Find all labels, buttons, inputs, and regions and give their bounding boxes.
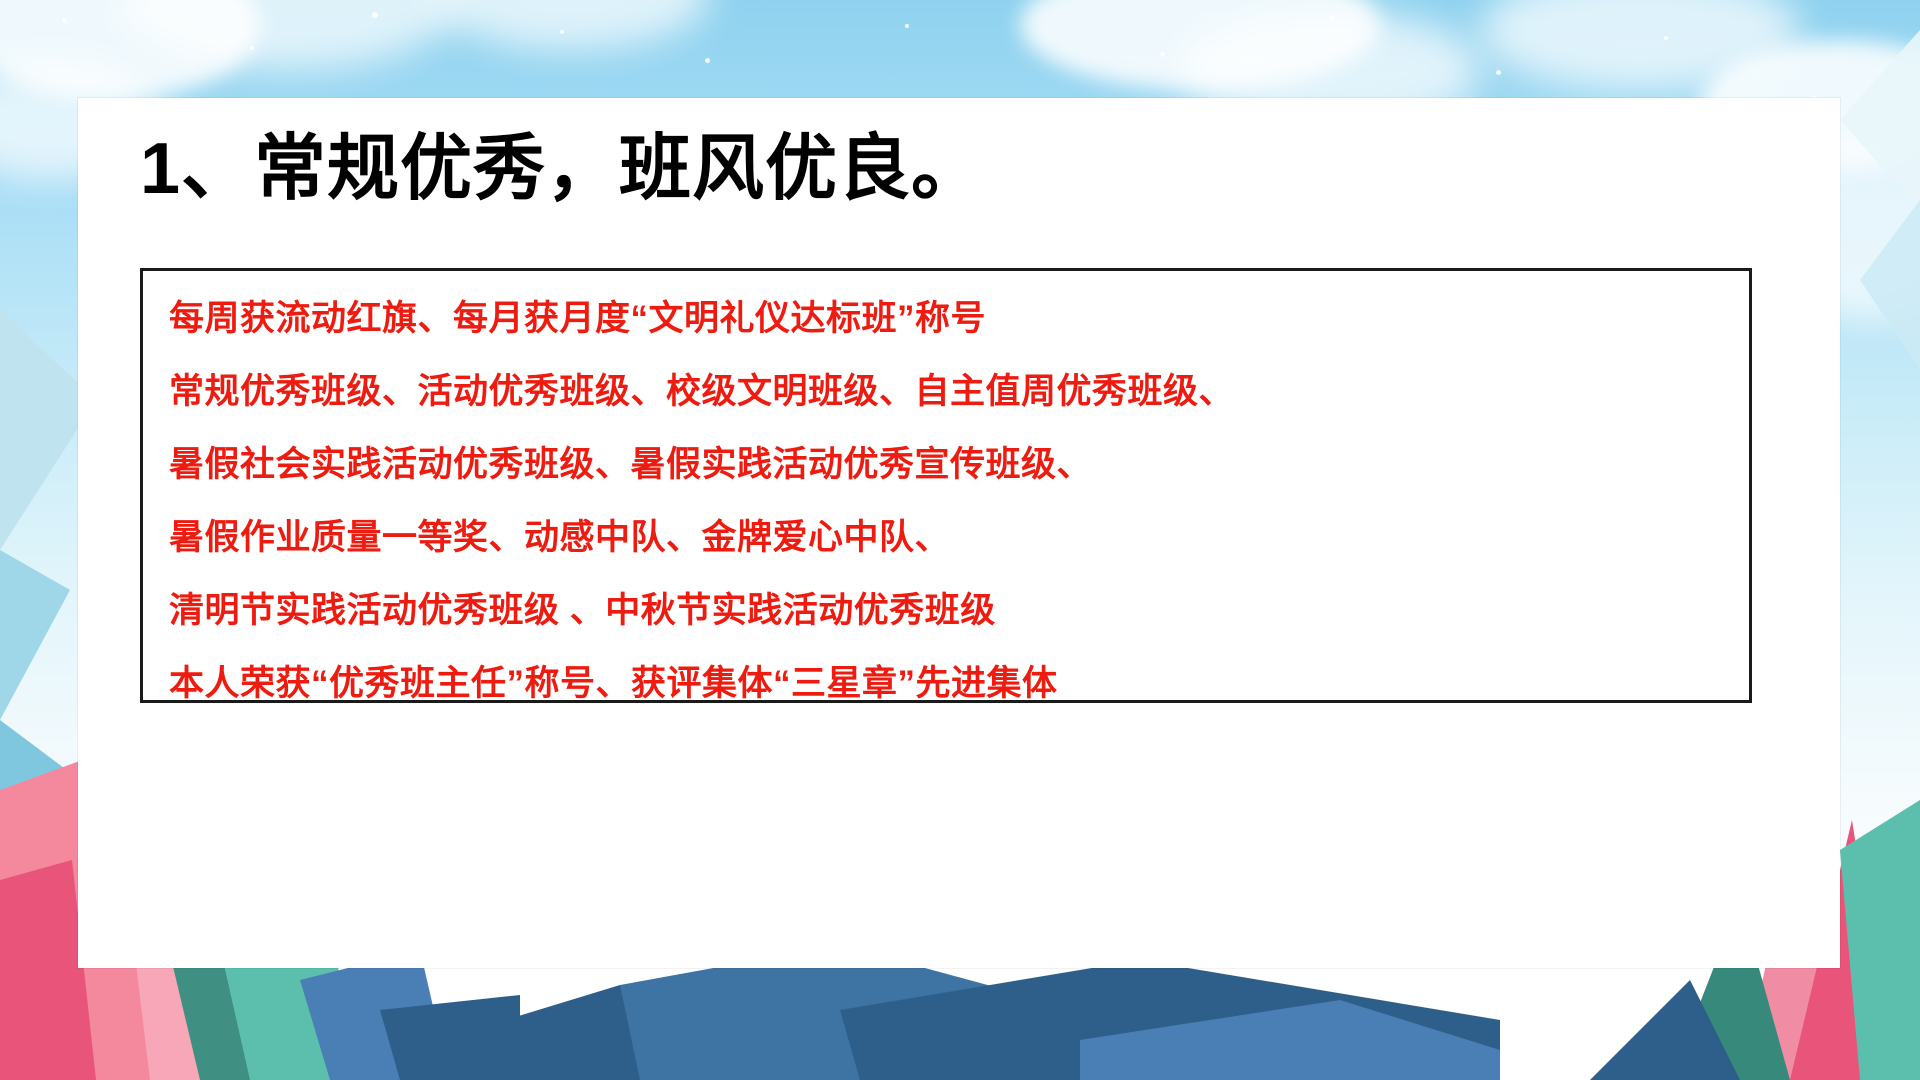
cloud-shape	[430, 0, 710, 50]
sparkle-dot	[1496, 70, 1501, 75]
achievement-line: 清明节实践活动优秀班级 、中秋节实践活动优秀班级	[169, 593, 1723, 628]
sparkle-dot	[1160, 52, 1165, 57]
cloud-shape	[1480, 0, 1800, 90]
sparkle-dot	[1330, 16, 1334, 20]
slide-content-card: 1、常规优秀，班风优良。 每周获流动红旗、每月获月度“文明礼仪达标班”称号 常规…	[78, 98, 1840, 968]
sparkle-dot	[372, 12, 378, 18]
cloud-shape	[0, 0, 260, 100]
achievement-line: 每周获流动红旗、每月获月度“文明礼仪达标班”称号	[169, 301, 1723, 336]
achievement-line: 本人荣获“优秀班主任”称号、获评集体“三星章”先进集体	[169, 666, 1723, 701]
sparkle-dot	[250, 46, 254, 50]
achievement-line: 暑假作业质量一等奖、动感中队、金牌爱心中队、	[169, 520, 1723, 555]
slide-canvas: 1、常规优秀，班风优良。 每周获流动红旗、每月获月度“文明礼仪达标班”称号 常规…	[0, 0, 1920, 1080]
sparkle-dot	[705, 58, 710, 63]
sparkle-dot	[62, 18, 67, 23]
sparkle-dot	[560, 30, 564, 34]
achievement-line: 常规优秀班级、活动优秀班级、校级文明班级、自主值周优秀班级、	[169, 374, 1723, 409]
achievement-line: 暑假社会实践活动优秀班级、暑假实践活动优秀宣传班级、	[169, 447, 1723, 482]
cloud-shape	[1020, 0, 1380, 90]
achievements-box: 每周获流动红旗、每月获月度“文明礼仪达标班”称号 常规优秀班级、活动优秀班级、校…	[140, 268, 1752, 703]
sparkle-dot	[905, 24, 909, 28]
page-title: 1、常规优秀，班风优良。	[140, 130, 984, 209]
cloud-shape	[120, 0, 460, 70]
sparkle-dot	[1664, 36, 1668, 40]
